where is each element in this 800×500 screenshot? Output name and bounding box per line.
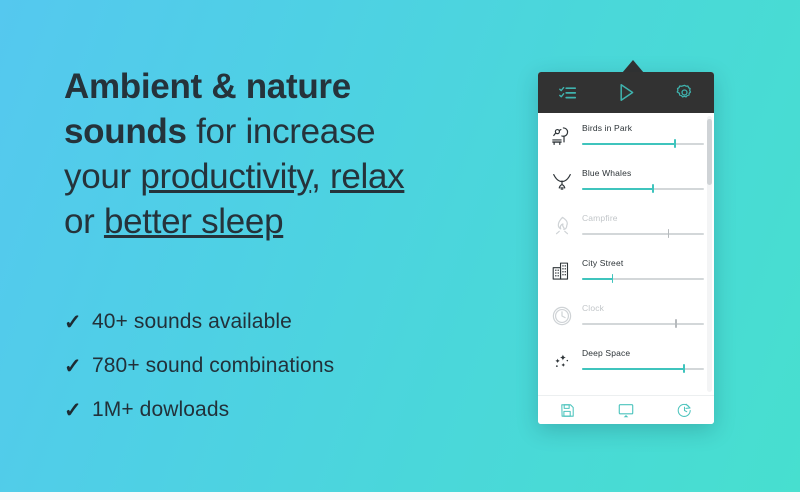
volume-slider[interactable] <box>582 274 704 283</box>
cast-icon <box>618 403 634 418</box>
sound-name: Blue Whales <box>582 168 704 178</box>
sound-name: Birds in Park <box>582 123 704 133</box>
headline-pre-line3: your <box>64 157 140 196</box>
panel-header-toolbar <box>538 72 714 113</box>
headline-link-better-sleep: better sleep <box>104 202 283 241</box>
slider-thumb[interactable] <box>675 319 677 328</box>
gear-icon <box>676 84 693 101</box>
buildings-icon <box>547 260 577 282</box>
list-item: ✓ 40+ sounds available <box>64 300 494 344</box>
headline-link-productivity: productivity <box>140 157 311 196</box>
play-button[interactable] <box>597 72 656 113</box>
slider-fill <box>582 278 613 280</box>
volume-slider[interactable] <box>582 184 704 193</box>
app-panel: Birds in Park <box>538 72 714 424</box>
bullet-label: 1M+ dowloads <box>92 398 229 422</box>
save-icon <box>560 403 575 418</box>
list-item[interactable]: Birds in Park <box>538 113 714 158</box>
check-icon: ✓ <box>64 356 92 377</box>
sound-list[interactable]: Birds in Park <box>538 113 714 395</box>
slider-thumb[interactable] <box>674 139 676 148</box>
headline-bold-line1: Ambient & nature <box>64 67 351 106</box>
volume-slider[interactable] <box>582 364 704 373</box>
slider-thumb[interactable] <box>612 274 614 283</box>
list-item: ✓ 1M+ dowloads <box>64 388 494 432</box>
headline-rest-line2: for increase <box>187 112 376 151</box>
slider-fill <box>582 143 675 145</box>
clock-icon <box>547 305 577 327</box>
tab-sound-list[interactable] <box>538 72 597 113</box>
timer-icon <box>677 403 692 418</box>
list-item: ✓ 780+ sound combinations <box>64 344 494 388</box>
campfire-icon <box>547 215 577 237</box>
list-item[interactable]: Clock <box>538 293 714 338</box>
headline-mid-line3: , <box>311 157 330 196</box>
sparkles-icon <box>547 350 577 372</box>
check-icon: ✓ <box>64 400 92 421</box>
bullet-label: 40+ sounds available <box>92 310 292 334</box>
save-preset-button[interactable] <box>538 396 597 424</box>
marketing-copy: Ambient & naturesounds for increaseyour … <box>64 64 494 244</box>
slider-fill <box>582 233 669 235</box>
bullet-label: 780+ sound combinations <box>92 354 334 378</box>
slider-thumb[interactable] <box>668 229 670 238</box>
bird-tree-icon <box>547 125 577 147</box>
volume-slider[interactable] <box>582 139 704 148</box>
sound-name: Campfire <box>582 213 704 223</box>
tab-settings[interactable] <box>655 72 714 113</box>
scrollbar-thumb[interactable] <box>707 119 712 185</box>
page-title: Ambient & naturesounds for increaseyour … <box>64 64 494 244</box>
sound-name: Deep Space <box>582 348 704 358</box>
whale-tail-icon <box>547 170 577 192</box>
checklist-icon <box>559 86 576 100</box>
headline-link-relax: relax <box>330 157 404 196</box>
slider-thumb[interactable] <box>652 184 654 193</box>
slider-fill <box>582 188 653 190</box>
check-icon: ✓ <box>64 312 92 333</box>
headline-pre-line4: or <box>64 202 104 241</box>
promo-screenshot: Ambient & naturesounds for increaseyour … <box>0 0 800 500</box>
list-item[interactable]: Blue Whales <box>538 158 714 203</box>
play-icon <box>618 83 635 102</box>
sound-name: Clock <box>582 303 704 313</box>
list-item[interactable]: City Street <box>538 248 714 293</box>
headline-bold-line2: sounds <box>64 112 187 151</box>
feature-bullet-list: ✓ 40+ sounds available ✓ 780+ sound comb… <box>64 300 494 432</box>
list-item[interactable]: Deep Space <box>538 338 714 383</box>
panel-footer-toolbar <box>538 395 714 424</box>
cast-button[interactable] <box>597 396 656 424</box>
timer-button[interactable] <box>655 396 714 424</box>
sound-name: City Street <box>582 258 704 268</box>
volume-slider[interactable] <box>582 229 704 238</box>
slider-thumb[interactable] <box>683 364 685 373</box>
scrollbar[interactable] <box>707 116 712 392</box>
slider-fill <box>582 368 684 370</box>
slider-fill <box>582 323 676 325</box>
list-item[interactable]: Campfire <box>538 203 714 248</box>
bottom-edge-strip <box>0 492 800 500</box>
volume-slider[interactable] <box>582 319 704 328</box>
